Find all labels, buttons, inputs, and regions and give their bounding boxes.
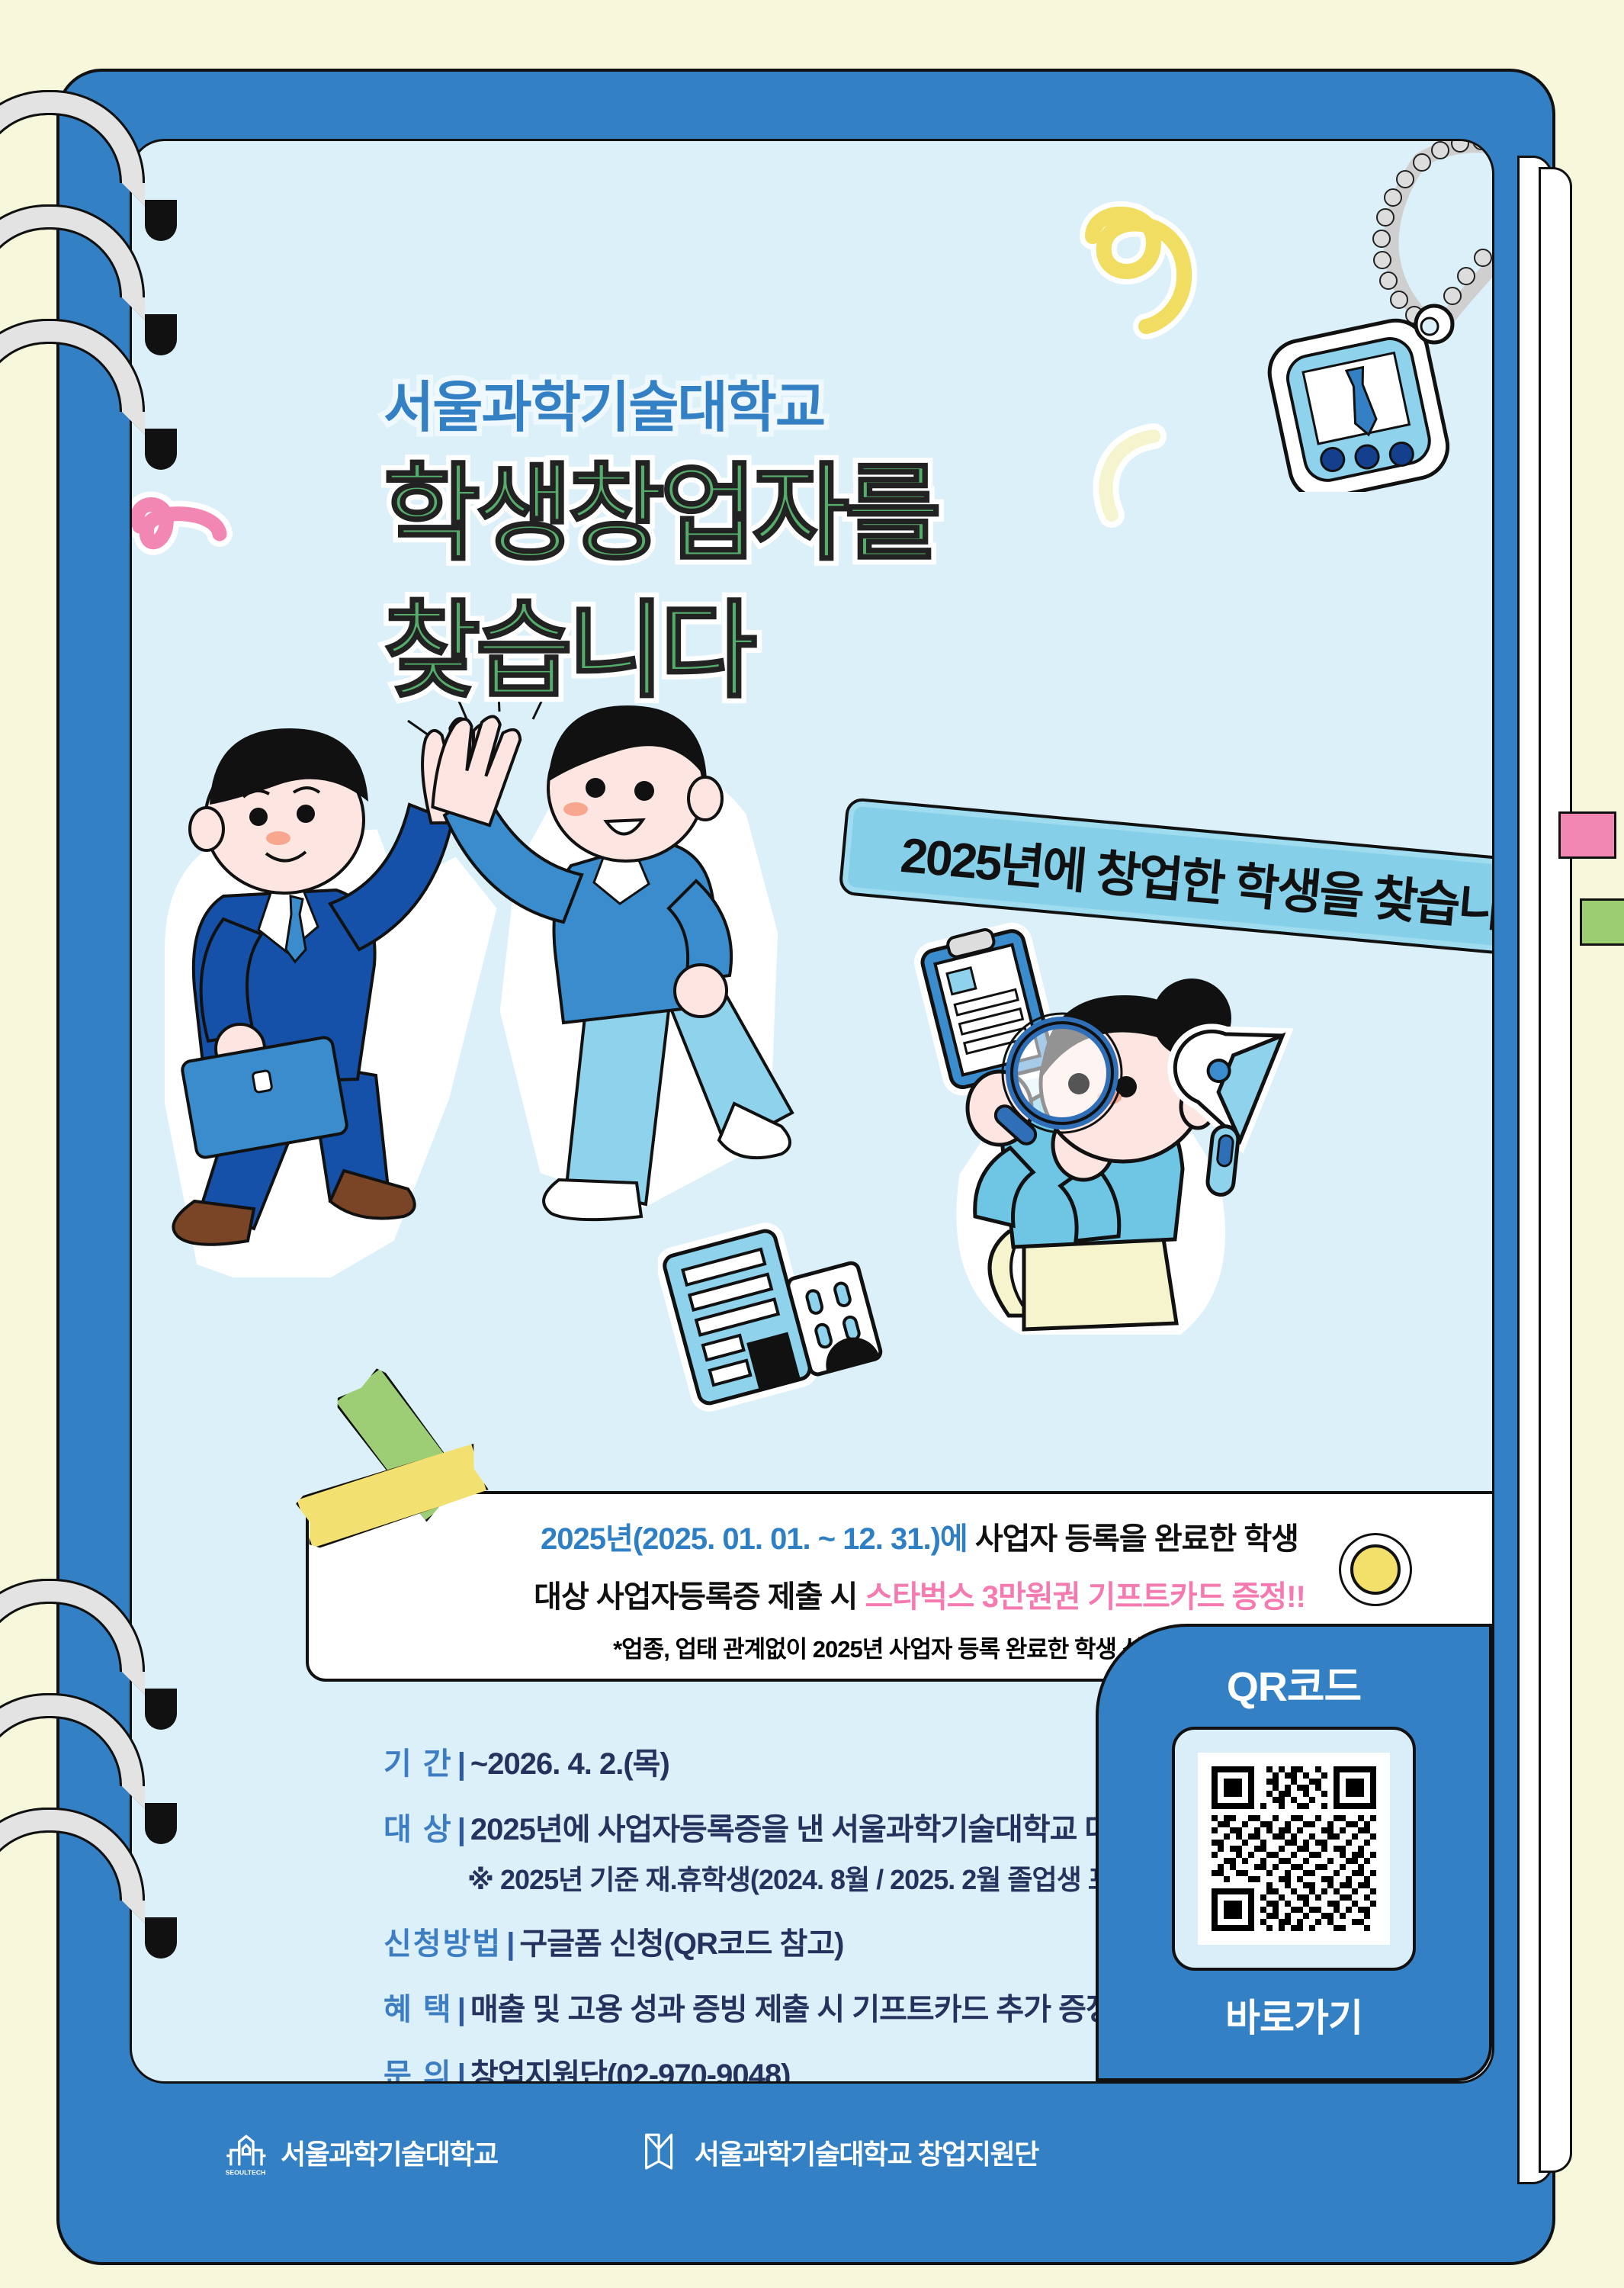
qr-panel-title: QR코드 <box>1099 1653 1489 1713</box>
sticky-tab-pink[interactable] <box>1558 811 1616 859</box>
poster-title-line1: 학생창업자를 <box>384 461 937 567</box>
qr-card[interactable] <box>1172 1727 1416 1971</box>
qr-panel-caption: 바로가기 <box>1099 1988 1489 2042</box>
spiral-ring-cap <box>145 314 177 355</box>
seoultech-logo-icon: SEOULTECH <box>221 2128 270 2177</box>
squiggle-decoration-icon <box>1070 198 1245 351</box>
spiral-ring-cap <box>145 429 177 470</box>
footer-logos: SEOULTECH 서울과학기술대학교 서울과학기술대학교 창업지원단 <box>56 2106 1200 2198</box>
seoultech-logo-subtext: SEOULTECH <box>226 2168 266 2176</box>
detail-label: 신청방법 <box>384 1927 502 1961</box>
startup-center-logo-icon <box>635 2128 684 2177</box>
university-name: 서울과학기술대학교 <box>384 362 824 442</box>
poster-root: 서울과학기술대학교 학생창업자를 학생창업자를 찾습니다 찾습니다 <box>0 0 1624 2288</box>
seoultech-logo: SEOULTECH 서울과학기술대학교 <box>221 2128 498 2177</box>
poster-title-line2: 찾습니다 <box>384 599 753 704</box>
detail-label: 대 상 <box>384 1813 453 1846</box>
info-gift-highlight: 스타벅스 3만원권 기프트카드 증정!! <box>865 1580 1305 1614</box>
detail-label: 문 의 <box>384 2058 453 2084</box>
detail-separator: | <box>457 1993 466 2026</box>
detail-value: 구글폼 신청(QR코드 참고) <box>519 1927 843 1961</box>
sticky-tab-green[interactable] <box>1580 898 1624 946</box>
info-line-1: 2025년(2025. 01. 01. ~ 12. 31.)에 사업자 등록을 … <box>309 1514 1494 1558</box>
spiral-ring-cap <box>145 1803 177 1844</box>
detail-separator: | <box>506 1927 515 1961</box>
detail-separator: | <box>457 2058 466 2084</box>
detail-value: 창업지원단(02-970-9048) <box>470 2058 791 2084</box>
detail-label: 혜 택 <box>384 1993 453 2026</box>
high-five-illustration <box>130 667 795 1277</box>
startup-center-logo-text: 서울과학기술대학교 창업지원단 <box>695 2132 1038 2172</box>
poster-page: 서울과학기술대학교 학생창업자를 학생창업자를 찾습니다 찾습니다 <box>130 139 1494 2084</box>
qr-panel[interactable]: QR코드 <box>1096 1624 1492 2081</box>
squiggle-pink-icon <box>130 480 239 580</box>
info-line-2-prefix: 대상 사업자등록증 제출 시 <box>534 1580 865 1614</box>
info-period-highlight: 2025년(2025. 01. 01. ~ 12. 31.)에 <box>541 1522 968 1556</box>
spiral-ring-cap <box>145 1917 177 1959</box>
detail-value: ~2026. 4. 2.(목) <box>470 1747 669 1781</box>
info-line-2: 대상 사업자등록증 제출 시 스타벅스 3만원권 기프트카드 증정!! <box>309 1572 1494 1616</box>
detail-separator: | <box>457 1747 466 1781</box>
seoultech-logo-text: 서울과학기술대학교 <box>281 2132 498 2172</box>
woman-with-magnifier-illustration <box>910 904 1382 1377</box>
squiggle-decoration-small-icon <box>1089 419 1188 534</box>
spiral-ring-cap <box>145 1689 177 1730</box>
keychain-charm-icon <box>1230 139 1494 492</box>
qr-code-icon[interactable] <box>1198 1753 1390 1945</box>
page-edge-2 <box>1539 167 1572 2173</box>
detail-value: 매출 및 고용 성과 증빙 제출 시 기프트카드 추가 증정 <box>470 1993 1113 2026</box>
circle-decoration-icon <box>1350 1544 1401 1595</box>
info-line-1-rest: 사업자 등록을 완료한 학생 <box>968 1522 1298 1556</box>
office-building-icon <box>658 1201 887 1415</box>
detail-label: 기 간 <box>384 1747 453 1781</box>
spiral-ring-cap <box>145 200 177 241</box>
detail-separator: | <box>457 1813 466 1846</box>
startup-center-logo: 서울과학기술대학교 창업지원단 <box>635 2128 1038 2177</box>
